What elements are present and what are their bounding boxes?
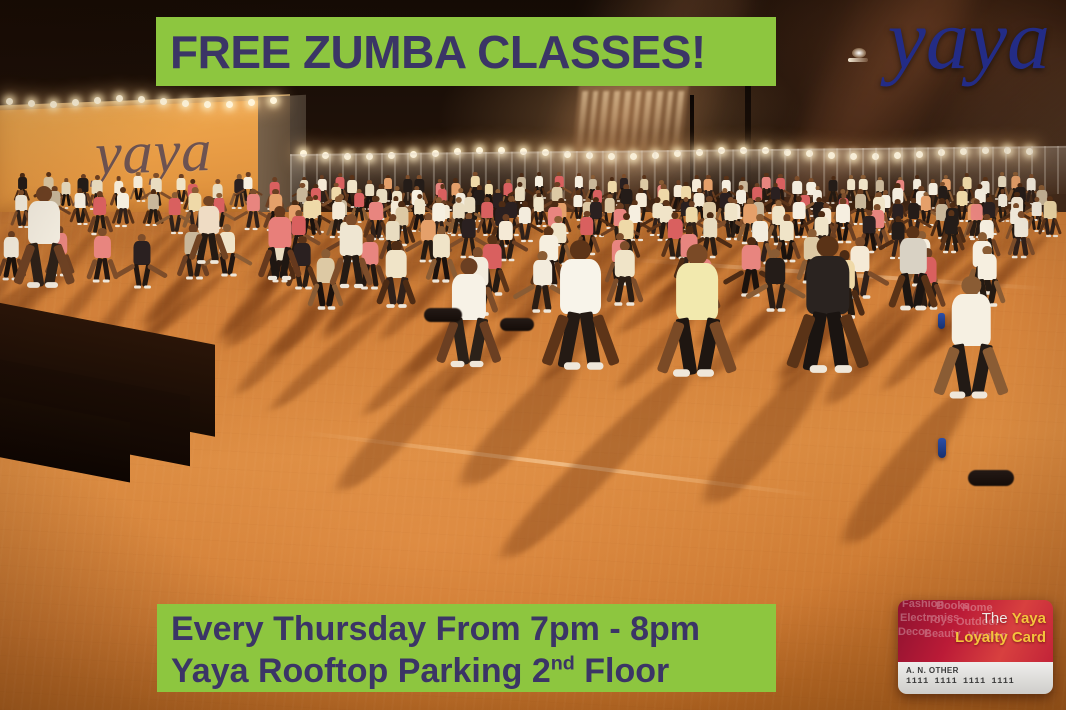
dancer (386, 241, 407, 308)
headline-text: FREE ZUMBA CLASSES! (170, 29, 762, 75)
dancer (340, 214, 363, 289)
dancer (433, 226, 450, 282)
dancer (900, 226, 926, 311)
lamp-glint-icon (852, 48, 866, 58)
yaya-brand-logo: yaya (888, 0, 1050, 82)
dancer (28, 186, 60, 289)
details-banner: Every Thursday From 7pm - 8pm Yaya Rooft… (157, 604, 776, 692)
dancer (1014, 211, 1028, 257)
dancer (268, 206, 291, 281)
dancer (724, 197, 737, 239)
dancer (198, 196, 219, 263)
dancer (676, 244, 718, 379)
loyalty-card-number: 1111 1111 1111 1111 (906, 676, 1053, 687)
location-line: Yaya Rooftop Parking 2nd Floor (171, 650, 762, 692)
dancer (62, 178, 71, 207)
dancer (117, 187, 129, 226)
dancer (15, 190, 27, 227)
dancer (168, 192, 181, 233)
dancer (615, 241, 635, 305)
loyalty-card-front: FashionBooksElectronicsToysHomeDecorBeau… (898, 600, 1053, 662)
dancer (94, 228, 111, 282)
loyalty-card-brand: Yaya (1012, 610, 1046, 627)
dancer (766, 249, 786, 312)
lamp-glint-bar-icon (848, 58, 868, 62)
dancer (481, 197, 493, 235)
gym-bag (968, 470, 1014, 486)
headline-banner: FREE ZUMBA CLASSES! (156, 17, 776, 86)
water-bottle (938, 438, 946, 458)
water-bottle (938, 313, 945, 329)
dancer (133, 234, 150, 289)
ordinal-suffix: nd (551, 653, 575, 675)
dancer (519, 201, 531, 240)
dancer (806, 236, 849, 374)
loyalty-card-title-line1: The Yaya (955, 609, 1046, 628)
dancer (247, 189, 260, 230)
loyalty-card-title-line2: Loyalty Card (955, 628, 1046, 647)
loyalty-card-title: The Yaya Loyalty Card (955, 609, 1046, 647)
gym-bag (500, 318, 534, 331)
gym-bag (424, 308, 462, 322)
loyalty-card-holder: A. N. OTHER (906, 666, 1053, 676)
loyalty-card-strip: A. N. OTHER 1111 1111 1111 1111 (898, 662, 1053, 694)
location-text-before: Yaya Rooftop Parking 2 (171, 652, 551, 690)
dancer (560, 240, 601, 371)
loyalty-card-the: The (982, 610, 1012, 627)
dancer (952, 276, 991, 400)
schedule-line: Every Thursday From 7pm - 8pm (171, 608, 762, 650)
dancer (533, 251, 552, 312)
loyalty-card: FashionBooksElectronicsToysHomeDecorBeau… (898, 600, 1053, 694)
dancer (74, 188, 85, 224)
dancer (148, 189, 159, 225)
location-text-after: Floor (575, 652, 669, 690)
dancer (534, 193, 544, 226)
poster: yaya FREE ZUMBA CLASSES! Every Thursday … (0, 0, 1066, 710)
dancer (1044, 196, 1057, 237)
dancer (945, 210, 958, 252)
